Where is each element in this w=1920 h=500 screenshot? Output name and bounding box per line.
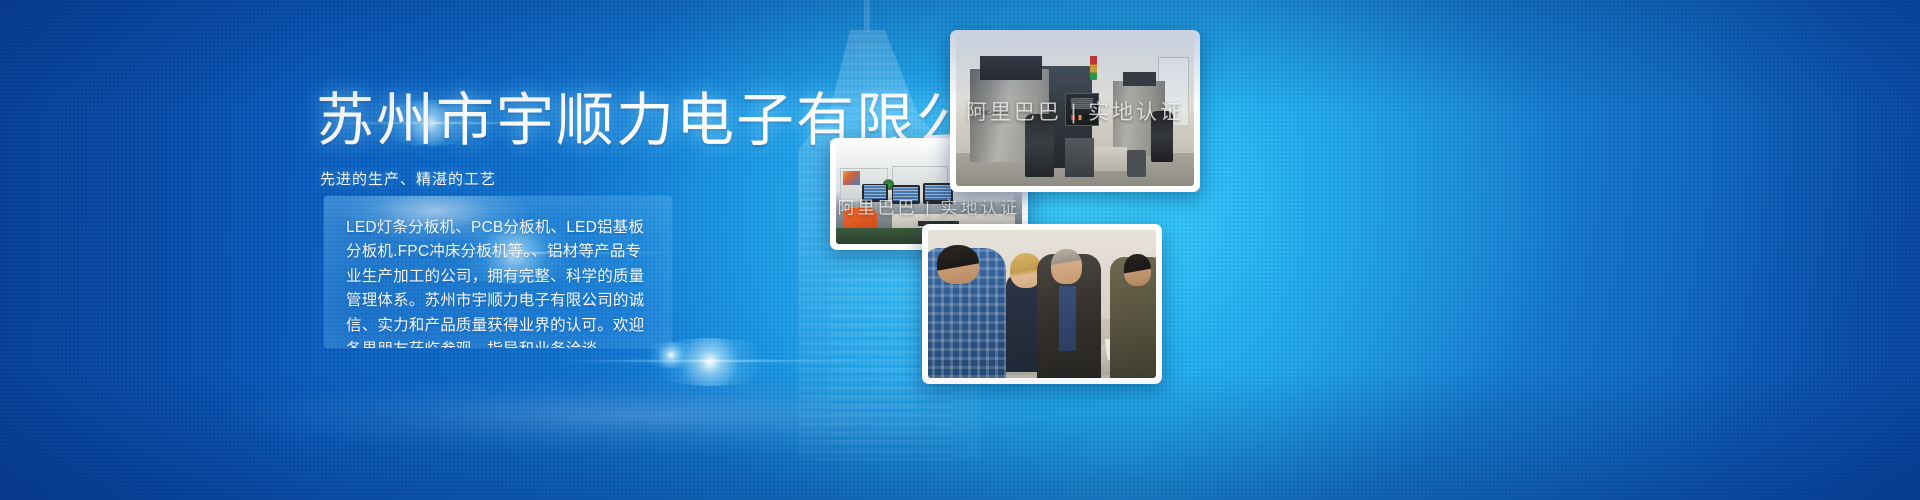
- person-figure: [1110, 257, 1156, 378]
- worker-figure: [1151, 111, 1172, 162]
- meeting-photo-card[interactable]: [922, 224, 1162, 384]
- cnc-photo-frame: VMC-850L 阿里巴巴 | 实地认证: [956, 36, 1194, 186]
- meeting-photo-frame: [928, 230, 1156, 378]
- signal-tower-light: [1090, 56, 1096, 80]
- cnc-workshop-scene: VMC-850L: [956, 36, 1194, 186]
- person-figure: [928, 248, 1006, 378]
- worker-figure: [1025, 114, 1054, 177]
- cnc-workshop-photo-card[interactable]: VMC-850L 阿里巴巴 | 实地认证: [950, 30, 1200, 192]
- cnc-control-panel: [1065, 93, 1098, 126]
- meeting-scene: [928, 230, 1156, 378]
- photo-collage: 阿里巴巴 | 实地认证 VMC-850L: [0, 0, 1920, 500]
- wall-art: [843, 171, 860, 185]
- company-hero-banner: 苏州市宇顺力电子有限公司 先进的生产、精湛的工艺 LED灯条分板机、PCB分板机…: [0, 0, 1920, 500]
- person-figure: [1037, 254, 1101, 378]
- machine-model-label: VMC-850L: [978, 110, 1010, 117]
